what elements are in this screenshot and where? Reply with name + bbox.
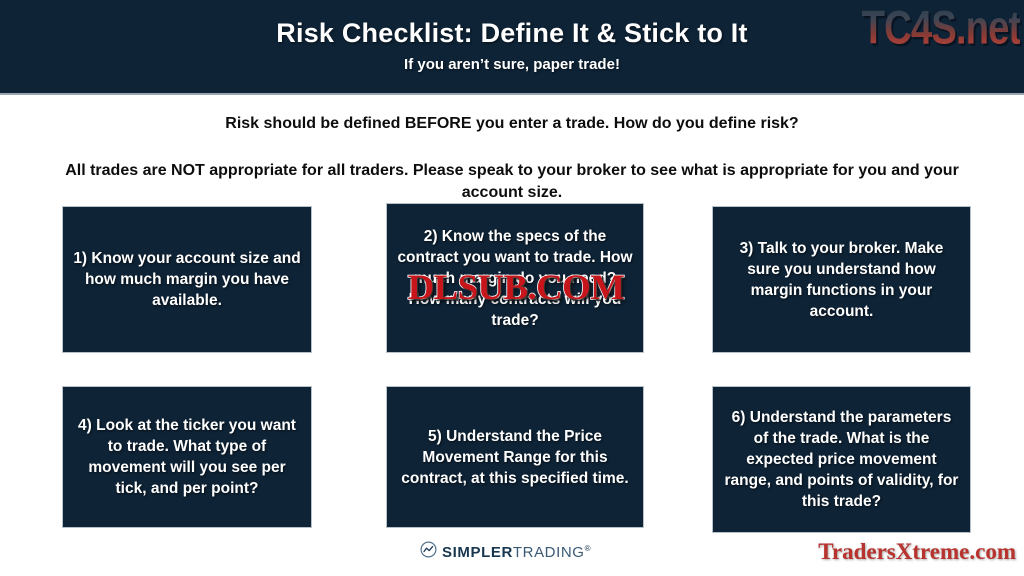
checklist-item-6-text: 6) Understand the parameters of the trad… bbox=[723, 407, 960, 512]
checklist-item-3: 3) Talk to your broker. Make sure you un… bbox=[712, 206, 971, 353]
checklist-item-5: 5) Understand the Price Movement Range f… bbox=[386, 386, 644, 528]
checklist-item-4-text: 4) Look at the ticker you want to trade.… bbox=[73, 415, 301, 499]
tc4s-watermark: TC4S.net bbox=[861, 2, 1020, 55]
intro-question: Risk should be defined BEFORE you enter … bbox=[0, 115, 1024, 133]
checklist-item-4: 4) Look at the ticker you want to trade.… bbox=[62, 386, 312, 528]
brand-name-light: TRADING bbox=[513, 544, 585, 561]
checklist-item-1-text: 1) Know your account size and how much m… bbox=[73, 248, 301, 311]
dlsub-watermark: DLSUB.COM bbox=[367, 266, 665, 308]
brand-name-bold: SIMPLER bbox=[442, 544, 513, 561]
chart-circle-icon bbox=[420, 541, 437, 563]
tradersxtreme-watermark: TradersXtreme.com bbox=[818, 539, 1016, 565]
registered-mark: ® bbox=[585, 544, 592, 553]
page-subtitle: If you aren’t sure, paper trade! bbox=[0, 56, 1024, 73]
checklist-item-5-text: 5) Understand the Price Movement Range f… bbox=[397, 426, 633, 489]
simpler-trading-wordmark: SIMPLERTRADING® bbox=[442, 544, 591, 561]
simpler-trading-logo: SIMPLERTRADING® bbox=[420, 541, 591, 563]
checklist-item-3-text: 3) Talk to your broker. Make sure you un… bbox=[723, 238, 960, 322]
intro-disclaimer: All trades are NOT appropriate for all t… bbox=[36, 160, 988, 204]
checklist-item-1: 1) Know your account size and how much m… bbox=[62, 206, 312, 353]
checklist-item-6: 6) Understand the parameters of the trad… bbox=[712, 386, 971, 533]
